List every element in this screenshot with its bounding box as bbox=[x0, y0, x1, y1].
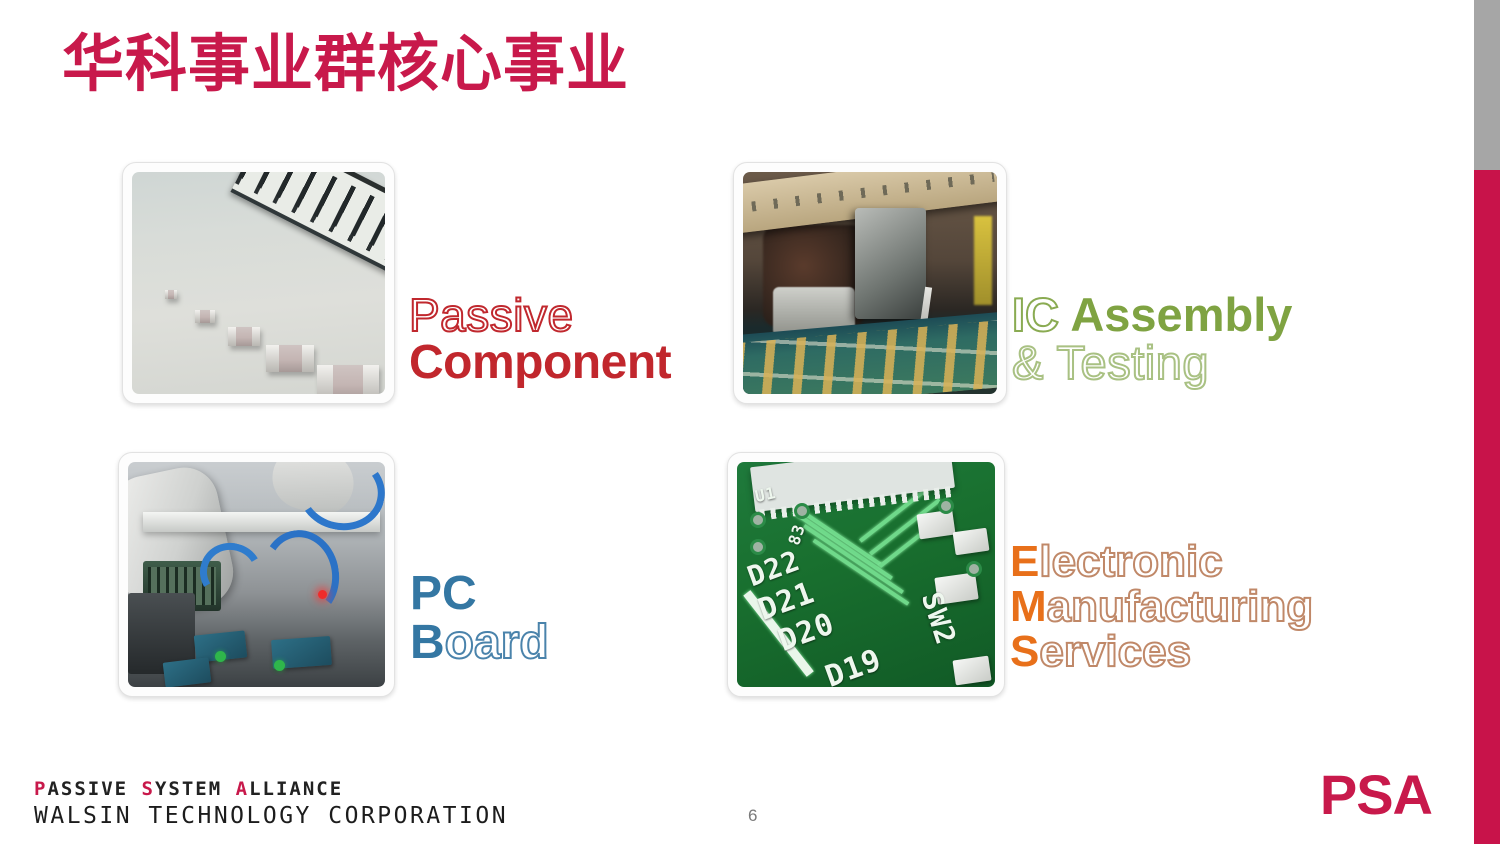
edge-bar-gray bbox=[1474, 0, 1500, 170]
via-pad bbox=[966, 561, 982, 577]
green-indicator-light bbox=[215, 651, 226, 662]
page-title: 华科事业群核心事业 bbox=[62, 28, 629, 99]
caption-initial-m: M bbox=[1010, 582, 1047, 631]
footer-initial-p: P bbox=[34, 778, 47, 800]
right-edge-accent-bars bbox=[1474, 0, 1500, 844]
footer-initial-s: S bbox=[142, 778, 155, 800]
caption-line-services: Services bbox=[1010, 630, 1313, 675]
caption-passive-component: Passive Component bbox=[409, 292, 671, 388]
chip-capacitor bbox=[228, 327, 260, 346]
passive-component-photo bbox=[132, 172, 385, 394]
circuit-board bbox=[163, 657, 212, 687]
caption-word-ic: IC bbox=[1012, 288, 1070, 341]
pneumatic-tube bbox=[256, 525, 345, 625]
caption-word-anufacturing: anufacturing bbox=[1047, 582, 1313, 631]
caption-line-board: Board bbox=[410, 619, 549, 668]
chip-capacitor bbox=[266, 345, 314, 372]
caption-word-oard: oard bbox=[445, 616, 549, 669]
caption-initial-s: S bbox=[1010, 627, 1039, 676]
footer-text-lliance: LLIANCE bbox=[249, 778, 343, 800]
footer-text-assive: ASSIVE bbox=[47, 778, 141, 800]
caption-line-passive: Passive bbox=[409, 292, 671, 339]
caption-line-component: Component bbox=[409, 339, 671, 388]
psa-logo: PSA bbox=[1320, 762, 1432, 827]
footer-company-name: WALSIN TECHNOLOGY CORPORATION bbox=[34, 803, 508, 829]
chip-capacitor bbox=[165, 290, 177, 299]
footer-brand: PASSIVE SYSTEM ALLIANCE WALSIN TECHNOLOG… bbox=[34, 778, 508, 829]
green-indicator-light bbox=[274, 660, 285, 671]
caption-line-electronic: Electronic bbox=[1010, 540, 1313, 585]
card-passive-component bbox=[122, 162, 395, 404]
card-electronic-manufacturing-services: U1 83 D22 D21 D20 D19 SW2 bbox=[727, 452, 1005, 697]
caption-word-ervices: ervices bbox=[1039, 627, 1191, 676]
footer-initial-a: A bbox=[236, 778, 249, 800]
caption-line-pc: PC bbox=[410, 570, 549, 619]
caption-letter-b: B bbox=[410, 616, 445, 669]
card-ic-assembly-testing bbox=[733, 162, 1007, 404]
via-pad bbox=[750, 539, 766, 555]
caption-line-testing: & Testing bbox=[1012, 339, 1292, 387]
caption-initial-e: E bbox=[1010, 537, 1039, 586]
pcb-silkscreen-label: 83 bbox=[784, 521, 809, 547]
chip-capacitor bbox=[195, 310, 215, 323]
footer-tagline: PASSIVE SYSTEM ALLIANCE bbox=[34, 778, 508, 800]
caption-pc-board: PC Board bbox=[410, 570, 549, 668]
page-number: 6 bbox=[748, 806, 757, 826]
edge-bar-crimson bbox=[1474, 170, 1500, 844]
caption-electronic-manufacturing-services: Electronic Manufacturing Services bbox=[1010, 540, 1313, 675]
caption-ic-assembly-testing: IC Assembly & Testing bbox=[1012, 291, 1292, 387]
smd-component bbox=[916, 509, 955, 539]
footer-text-ystem: YSTEM bbox=[155, 778, 236, 800]
caption-line-ic-assembly: IC Assembly bbox=[1012, 291, 1292, 339]
pc-board-photo bbox=[128, 462, 385, 687]
ic-package bbox=[750, 462, 955, 512]
yellow-post bbox=[974, 216, 992, 305]
pcb-silkscreen-label: U1 bbox=[753, 482, 778, 505]
via-pad bbox=[750, 512, 766, 528]
ic-assembly-photo bbox=[743, 172, 997, 394]
chip-capacitor bbox=[317, 365, 379, 394]
pcb-silkscreen-label: D19 bbox=[820, 642, 886, 687]
bond-head bbox=[855, 208, 926, 319]
caption-line-manufacturing: Manufacturing bbox=[1010, 585, 1313, 630]
smd-component bbox=[952, 527, 988, 554]
ems-pcb-photo: U1 83 D22 D21 D20 D19 SW2 bbox=[737, 462, 995, 687]
smd-component bbox=[952, 655, 991, 685]
card-pc-board bbox=[118, 452, 395, 697]
via-pad bbox=[794, 503, 810, 519]
caption-word-lectronic: lectronic bbox=[1039, 537, 1222, 586]
caption-word-assembly: Assembly bbox=[1070, 288, 1292, 341]
via-pad bbox=[938, 498, 954, 514]
